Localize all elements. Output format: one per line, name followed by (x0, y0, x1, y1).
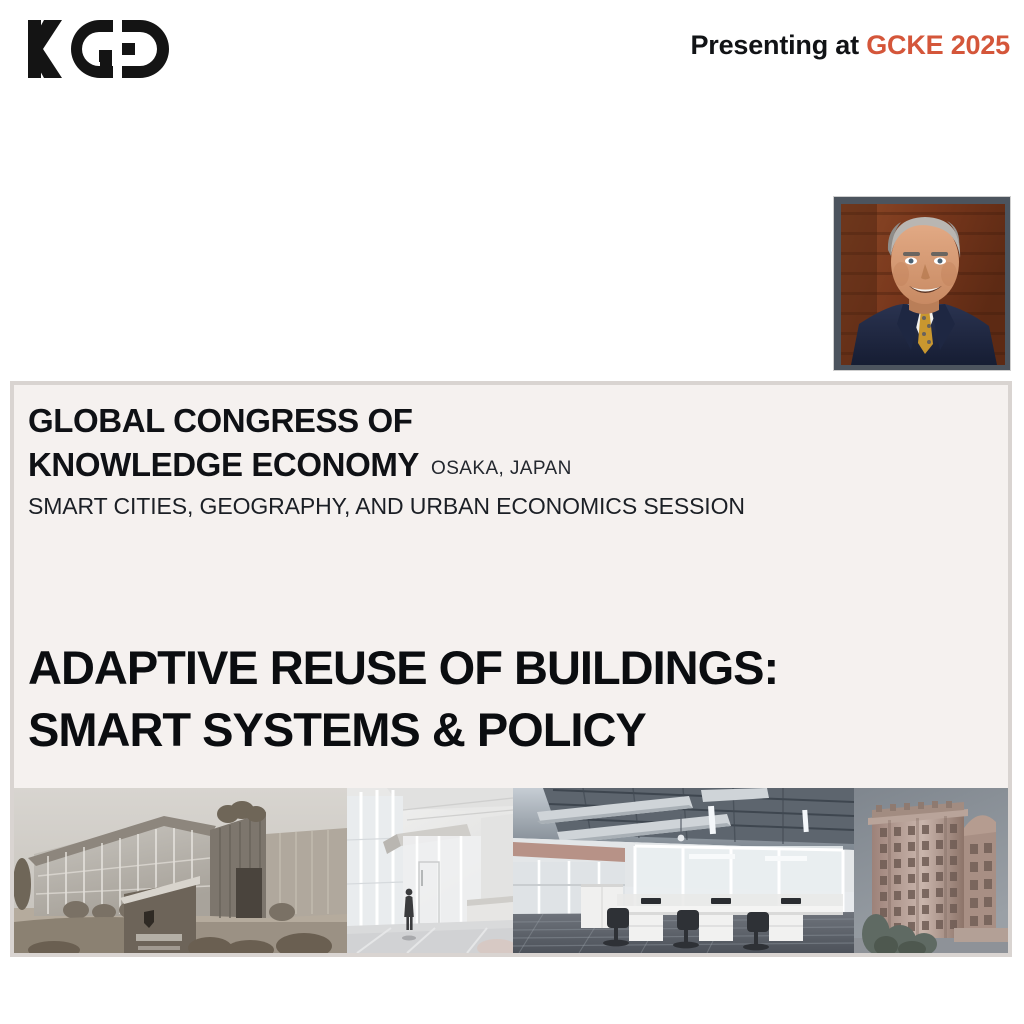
page-header: Presenting at GCKE 2025 (0, 0, 1024, 100)
historic-highrise-tower-photo (854, 788, 1008, 953)
congress-name-line-2: KNOWLEDGE ECONOMYOSAKA, JAPAN (28, 443, 1008, 487)
open-plan-office-workstations-photo (513, 788, 854, 953)
project-image-strip (14, 788, 1008, 953)
card-heading-block: GLOBAL CONGRESS OF KNOWLEDGE ECONOMYOSAK… (14, 385, 1008, 520)
congress-location: OSAKA, JAPAN (419, 458, 572, 479)
building-exterior-glass-facade-photo (14, 788, 347, 953)
speaker-photo-frame (833, 196, 1011, 371)
speaker-headshot-photo (841, 204, 1005, 365)
congress-name-line-1: GLOBAL CONGRESS OF (28, 399, 1008, 443)
presenting-prefix: Presenting at (690, 30, 866, 60)
presentation-title-line-2: SMART SYSTEMS & POLICY (28, 699, 778, 761)
presentation-title-card: GLOBAL CONGRESS OF KNOWLEDGE ECONOMYOSAK… (10, 381, 1012, 957)
presentation-title: ADAPTIVE REUSE OF BUILDINGS: SMART SYSTE… (28, 637, 778, 761)
presenting-at-label: Presenting at GCKE 2025 (690, 30, 1010, 61)
session-name: SMART CITIES, GEOGRAPHY, AND URBAN ECONO… (28, 493, 1008, 520)
congress-name-text: KNOWLEDGE ECONOMY (28, 446, 419, 483)
lobby-interior-white-atrium-photo (347, 788, 513, 953)
kgd-logo[interactable] (26, 16, 226, 86)
presenting-event-name: GCKE 2025 (866, 30, 1010, 60)
presentation-title-line-1: ADAPTIVE REUSE OF BUILDINGS: (28, 637, 778, 699)
